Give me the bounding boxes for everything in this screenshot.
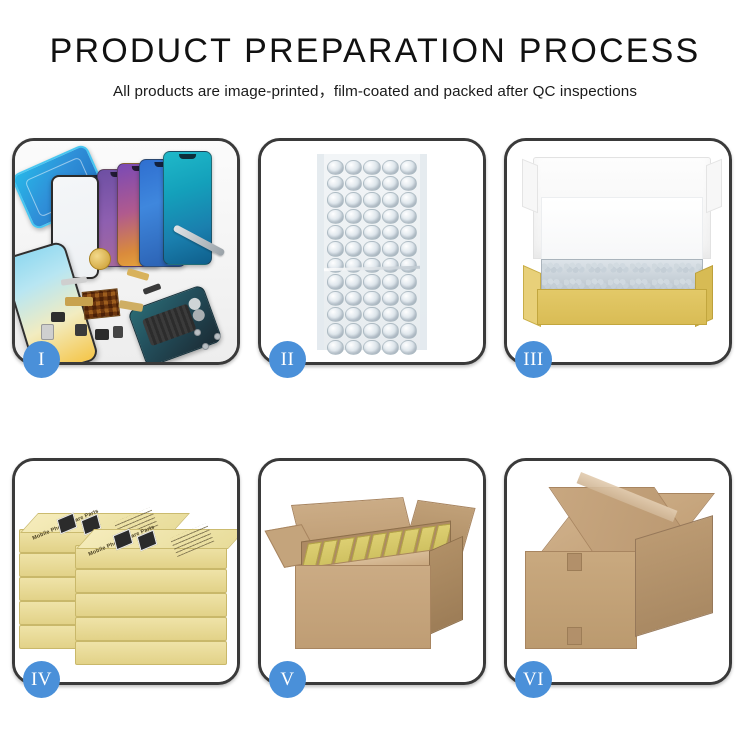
bubble-icon (382, 323, 399, 338)
bubble-icon (400, 291, 417, 306)
small-component-icon (41, 324, 54, 340)
bubble-icon (327, 160, 344, 175)
bubble-icon (400, 274, 417, 289)
bubble-icon (327, 323, 344, 338)
screw-icon (202, 343, 209, 350)
sealed-carton-image (507, 461, 729, 682)
carton-side-panel-icon (429, 536, 463, 635)
retail-box (75, 593, 227, 617)
flex-cable-icon (143, 283, 162, 295)
bubble-icon (363, 192, 380, 207)
page-title: PRODUCT PREPARATION PROCESS (0, 34, 750, 70)
bubble-icon (345, 241, 362, 256)
bubble-icon (345, 176, 362, 191)
bubble-icon (400, 160, 417, 175)
bubble-icon (363, 176, 380, 191)
step-panel-3: III (504, 138, 732, 365)
bubble-icon (327, 176, 344, 191)
step-badge-6: VI (515, 661, 552, 698)
step-panel-1: I (12, 138, 240, 365)
bubble-icon (345, 307, 362, 322)
step-badge-1: I (23, 341, 60, 378)
bubble-icon (400, 176, 417, 191)
step-panel-6: VI (504, 458, 732, 685)
bubble-icon (363, 307, 380, 322)
bubble-icon (382, 176, 399, 191)
box-stack: Mobile Phone Spare PartsMobile Phone Spa… (19, 475, 235, 675)
bubble-icon (400, 209, 417, 224)
bubble-icon (345, 258, 362, 273)
small-component-icon (95, 329, 109, 340)
bubble-icon (382, 274, 399, 289)
bubble-icon (382, 225, 399, 240)
bubble-icon (382, 291, 399, 306)
bubble-icon (327, 274, 344, 289)
step-badge-4: IV (23, 661, 60, 698)
header: PRODUCT PREPARATION PROCESS All products… (0, 0, 750, 101)
step-panel-2: II (258, 138, 486, 365)
bubble-icon (327, 291, 344, 306)
retail-box: Mobile Phone Spare Parts (75, 545, 227, 569)
bubble-icon (382, 340, 399, 355)
box-front-panel-icon (537, 289, 707, 325)
bubble-icon (345, 291, 362, 306)
bubble-icon (363, 209, 380, 224)
steps-grid: I II III (12, 138, 738, 685)
stacked-boxes-image: Mobile Phone Spare PartsMobile Phone Spa… (15, 461, 237, 682)
screw-icon (214, 333, 221, 340)
retail-box (75, 617, 227, 641)
bubble-icon (382, 160, 399, 175)
bubble-icon (363, 241, 380, 256)
bubble-icon (345, 160, 362, 175)
bubble-icon (382, 192, 399, 207)
bubble-icon (400, 241, 417, 256)
step-badge-3: III (515, 341, 552, 378)
retail-box (75, 641, 227, 665)
bubble-icon (345, 274, 362, 289)
bubble-grid (327, 160, 417, 344)
bubble-icon (382, 307, 399, 322)
bubble-icon (345, 209, 362, 224)
product-preparation-infographic: PRODUCT PREPARATION PROCESS All products… (0, 0, 750, 750)
bubble-wrap-sheet (317, 154, 427, 350)
small-component-icon (51, 312, 65, 322)
bubble-icon (400, 323, 417, 338)
flex-cable-icon (118, 300, 143, 312)
bubble-icon (327, 209, 344, 224)
bubble-icon (327, 241, 344, 256)
bubble-icon (363, 291, 380, 306)
inner-box-image (507, 141, 729, 362)
bubble-icon (382, 209, 399, 224)
bubble-wrap-image (261, 141, 483, 362)
bubble-icon (400, 340, 417, 355)
carton-handle-notch-icon (567, 627, 582, 645)
bubble-icon (345, 323, 362, 338)
bubble-icon (363, 323, 380, 338)
step-badge-2: II (269, 341, 306, 378)
bubble-icon (327, 192, 344, 207)
bubble-icon (327, 307, 344, 322)
bubble-icon (345, 225, 362, 240)
bubble-icon (345, 340, 362, 355)
bubble-icon (363, 160, 380, 175)
flex-cable-icon (65, 297, 93, 306)
small-component-icon (75, 324, 87, 336)
step-panel-4: Mobile Phone Spare PartsMobile Phone Spa… (12, 458, 240, 685)
bubble-icon (400, 225, 417, 240)
bubble-icon (327, 340, 344, 355)
bubble-icon (363, 274, 380, 289)
phone-parts-image (15, 141, 237, 362)
step-badge-5: V (269, 661, 306, 698)
bubble-icon (400, 307, 417, 322)
retail-box (75, 569, 227, 593)
speaker-module-icon (89, 248, 111, 270)
carton-handle-notch-icon (567, 553, 582, 571)
carton-filling-image (261, 461, 483, 682)
bubble-icon (363, 340, 380, 355)
screw-icon (194, 329, 201, 336)
foam-liner-icon (541, 197, 703, 263)
bubble-icon (363, 258, 380, 273)
step-panel-5: V (258, 458, 486, 685)
bubble-icon (400, 192, 417, 207)
small-component-icon (113, 326, 123, 338)
bubble-icon (382, 241, 399, 256)
bubble-icon (363, 225, 380, 240)
bubble-icon (327, 225, 344, 240)
page-subtitle: All products are image-printed，film-coat… (0, 79, 750, 101)
bubble-icon (345, 192, 362, 207)
wrapped-contents-icon (541, 259, 703, 293)
disassembled-phone-icon (127, 284, 223, 362)
carton-front-panel-icon (295, 565, 431, 649)
